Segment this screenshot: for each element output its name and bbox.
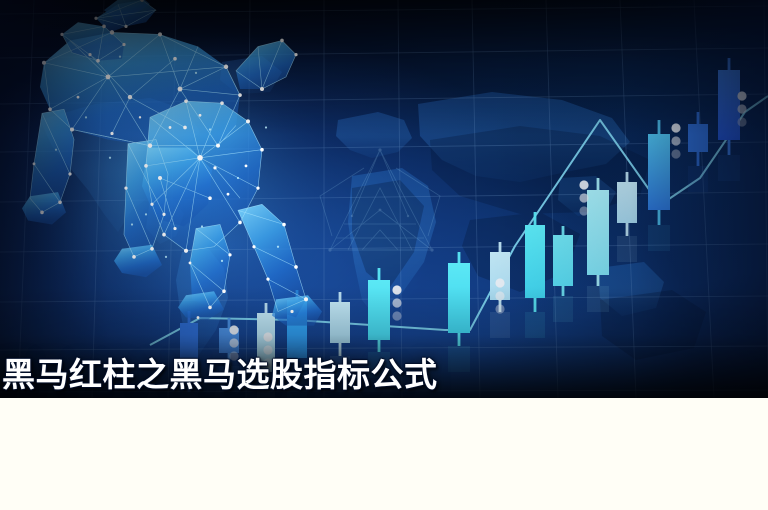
hero-banner-image: 黑马红柱之黑马选股指标公式 bbox=[0, 0, 768, 398]
vignette-bottom bbox=[0, 0, 768, 398]
article-body-area bbox=[0, 398, 768, 510]
page-root: 黑马红柱之黑马选股指标公式 bbox=[0, 0, 768, 510]
banner-title-bar: 黑马红柱之黑马选股指标公式 bbox=[0, 350, 768, 398]
page-title: 黑马红柱之黑马选股指标公式 bbox=[0, 358, 438, 391]
